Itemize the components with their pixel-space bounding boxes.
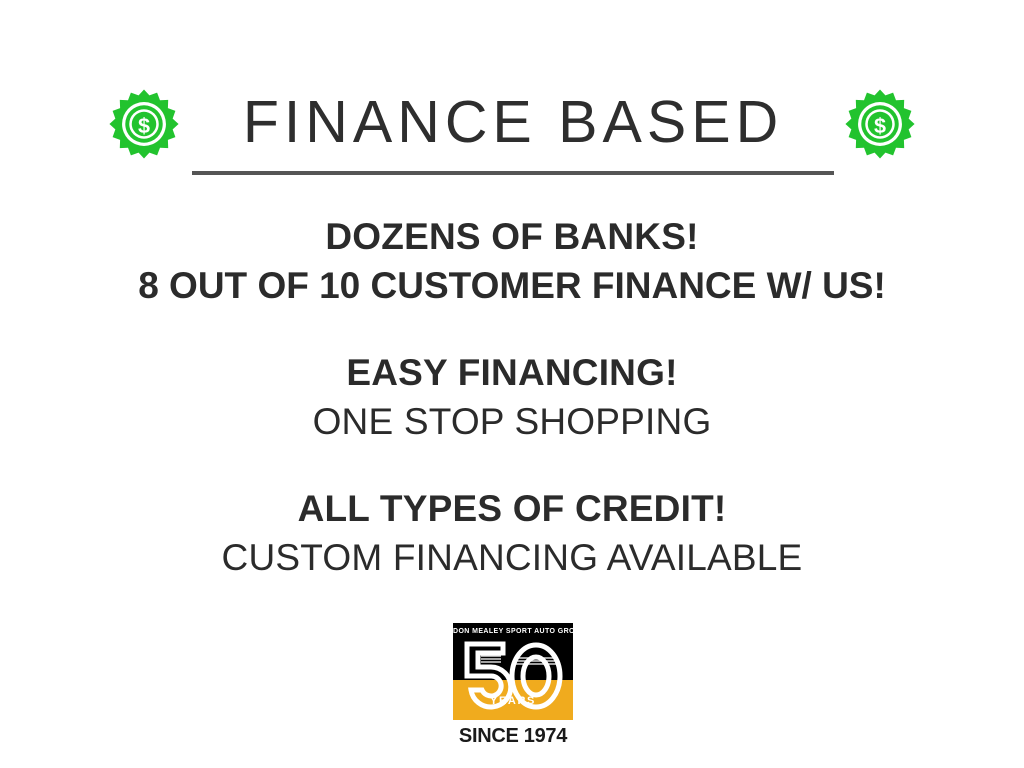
- copy-subtitle: CUSTOM FINANCING AVAILABLE: [0, 533, 1024, 582]
- dollar-gear-icon: $: [844, 88, 916, 160]
- copy-heading: DOZENS OF BANKS!: [0, 212, 1024, 261]
- logo-brand-name: DON MEALEY SPORT AUTO GROUP: [453, 628, 573, 636]
- dollar-gear-icon: $: [108, 88, 180, 160]
- copy-heading: ALL TYPES OF CREDIT!: [0, 484, 1024, 533]
- logo-since-label: SINCE 1974: [453, 725, 573, 748]
- logo-mark: DON MEALEY SPORT AUTO GROUP: [453, 623, 573, 720]
- copy-block: DOZENS OF BANKS! 8 OUT OF 10 CUSTOMER FI…: [0, 212, 1024, 310]
- copy-subtitle: 8 OUT OF 10 CUSTOMER FINANCE W/ US!: [0, 261, 1024, 310]
- logo-years-label: YEARS: [453, 695, 573, 708]
- dealer-anniversary-logo: DON MEALEY SPORT AUTO GROUP: [453, 623, 573, 748]
- title-divider: [192, 171, 834, 175]
- slide-header: $ FINANCE BASED $: [0, 78, 1024, 178]
- finance-based-slide: $ FINANCE BASED $ DOZENS OF BANKS! 8 OUT…: [0, 0, 1024, 768]
- svg-text:$: $: [874, 113, 886, 138]
- copy-block: ALL TYPES OF CREDIT! CUSTOM FINANCING AV…: [0, 484, 1024, 582]
- copy-subtitle: ONE STOP SHOPPING: [0, 397, 1024, 446]
- page-title: FINANCE BASED: [190, 78, 836, 166]
- copy-heading: EASY FINANCING!: [0, 348, 1024, 397]
- copy-block: EASY FINANCING! ONE STOP SHOPPING: [0, 348, 1024, 446]
- body-copy: DOZENS OF BANKS! 8 OUT OF 10 CUSTOMER FI…: [0, 212, 1024, 582]
- svg-text:$: $: [138, 113, 150, 138]
